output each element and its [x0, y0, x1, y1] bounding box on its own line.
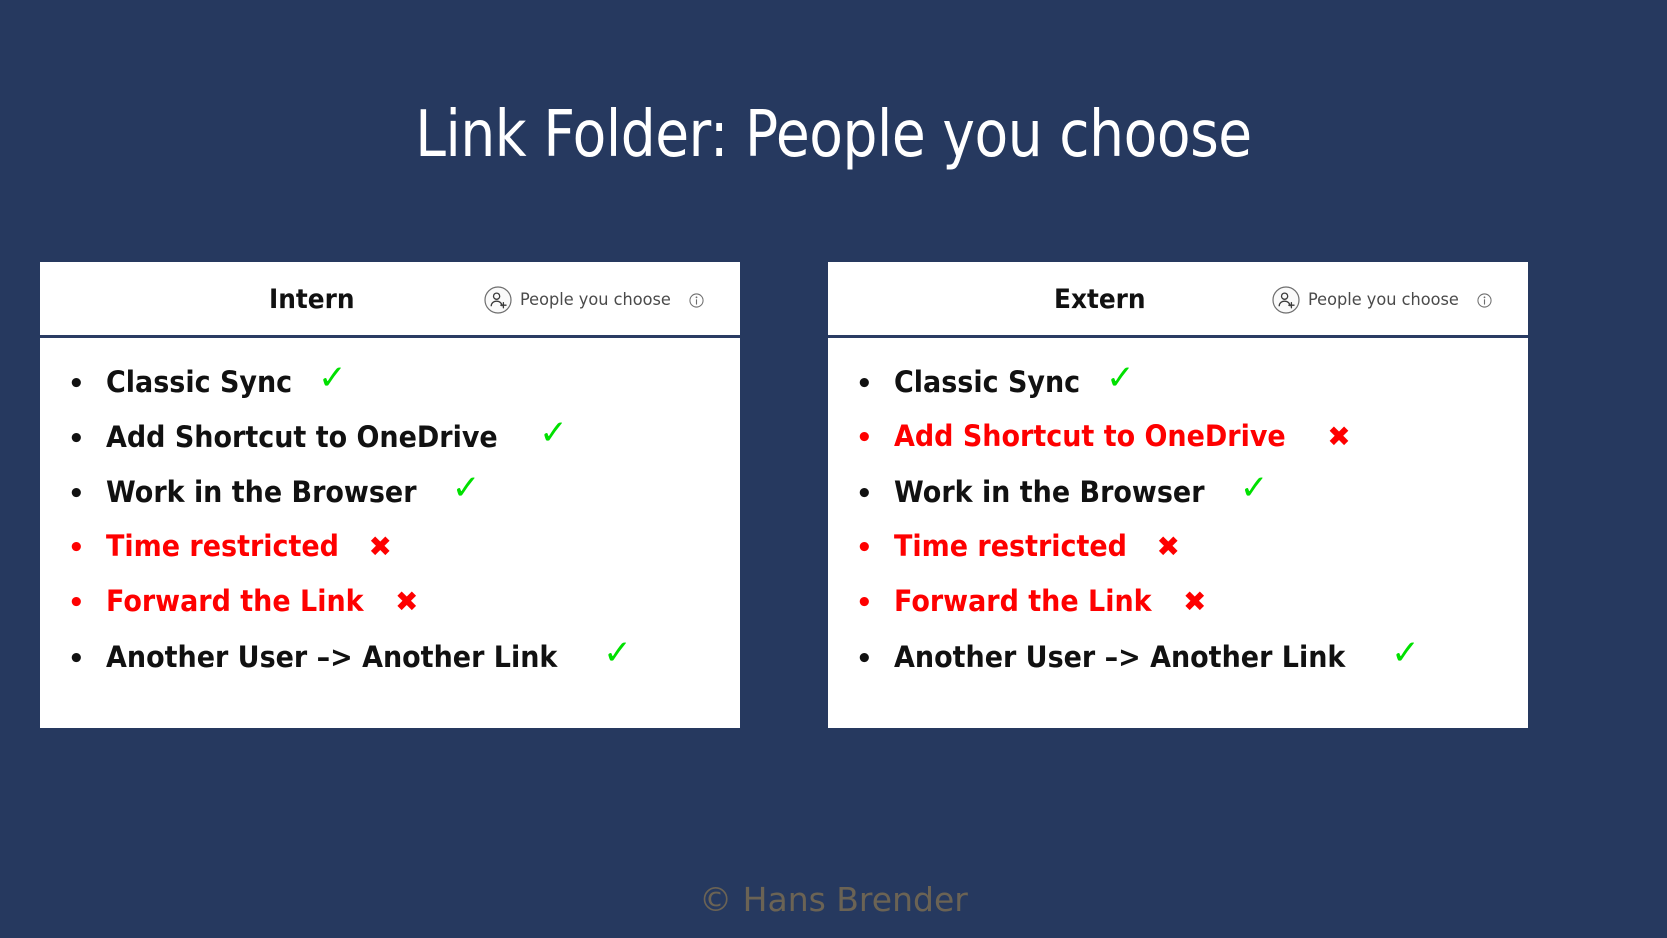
- list-item: • Classic Sync ✓: [40, 364, 740, 419]
- card-extern: Extern People you choose • Classic Sync …: [828, 262, 1528, 728]
- list-item-label: Another User –> Another Link: [106, 640, 557, 674]
- audience-chip[interactable]: People you choose: [484, 286, 704, 314]
- bullet-marker: •: [856, 535, 894, 561]
- status-check-icon: ✓: [539, 416, 568, 450]
- bullet-marker: •: [856, 425, 894, 451]
- bullet-marker: •: [68, 426, 106, 452]
- status-check-icon: ✓: [603, 636, 632, 670]
- list-item-label: Add Shortcut to OneDrive: [894, 419, 1286, 453]
- info-icon[interactable]: [1477, 293, 1492, 308]
- page-title: Link Folder: People you choose: [117, 96, 1551, 174]
- list-item: • Time restricted ✖: [828, 529, 1528, 584]
- list-item: • Forward the Link ✖: [828, 584, 1528, 639]
- feature-list-extern: • Classic Sync ✓ • Add Shortcut to OneDr…: [828, 338, 1528, 694]
- status-cross-icon: ✖: [1183, 588, 1206, 616]
- status-cross-icon: ✖: [1327, 423, 1350, 451]
- bullet-marker: •: [856, 590, 894, 616]
- list-item: • Another User –> Another Link ✓: [40, 639, 740, 694]
- list-item-label: Time restricted: [894, 529, 1127, 563]
- status-check-icon: ✓: [452, 471, 481, 505]
- status-check-icon: ✓: [1240, 471, 1269, 505]
- bullet-marker: •: [856, 646, 894, 672]
- list-item: • Time restricted ✖: [40, 529, 740, 584]
- feature-list-intern: • Classic Sync ✓ • Add Shortcut to OneDr…: [40, 338, 740, 694]
- bullet-marker: •: [856, 481, 894, 507]
- info-icon[interactable]: [689, 293, 704, 308]
- audience-chip[interactable]: People you choose: [1272, 286, 1492, 314]
- bullet-marker: •: [68, 535, 106, 561]
- list-item-label: Work in the Browser: [894, 475, 1205, 509]
- status-cross-icon: ✖: [369, 533, 392, 561]
- list-item: • Classic Sync ✓: [828, 364, 1528, 419]
- status-cross-icon: ✖: [1157, 533, 1180, 561]
- list-item-label: Classic Sync: [106, 365, 292, 399]
- card-intern: Intern People you choose • Classic Sync …: [40, 262, 740, 728]
- status-check-icon: ✓: [1391, 636, 1420, 670]
- list-item-label: Forward the Link: [894, 584, 1152, 618]
- bullet-marker: •: [68, 371, 106, 397]
- audience-label: People you choose: [520, 290, 671, 310]
- status-cross-icon: ✖: [395, 588, 418, 616]
- card-header: Extern People you choose: [828, 262, 1528, 338]
- status-check-icon: ✓: [318, 361, 347, 395]
- bullet-marker: •: [68, 646, 106, 672]
- list-item-label: Another User –> Another Link: [894, 640, 1345, 674]
- people-add-icon: [484, 286, 512, 314]
- list-item-label: Add Shortcut to OneDrive: [106, 420, 498, 454]
- audience-label: People you choose: [1308, 290, 1459, 310]
- list-item: • Add Shortcut to OneDrive ✓: [40, 419, 740, 474]
- copyright-watermark: © Hans Brender: [0, 880, 1667, 919]
- list-item: • Forward the Link ✖: [40, 584, 740, 639]
- list-item: • Add Shortcut to OneDrive ✖: [828, 419, 1528, 474]
- list-item: • Work in the Browser ✓: [40, 474, 740, 529]
- list-item-label: Time restricted: [106, 529, 339, 563]
- bullet-marker: •: [856, 371, 894, 397]
- list-item-label: Classic Sync: [894, 365, 1080, 399]
- bullet-marker: •: [68, 590, 106, 616]
- list-item: • Another User –> Another Link ✓: [828, 639, 1528, 694]
- people-add-icon: [1272, 286, 1300, 314]
- list-item: • Work in the Browser ✓: [828, 474, 1528, 529]
- list-item-label: Work in the Browser: [106, 475, 417, 509]
- card-header: Intern People you choose: [40, 262, 740, 338]
- status-check-icon: ✓: [1106, 361, 1135, 395]
- bullet-marker: •: [68, 481, 106, 507]
- list-item-label: Forward the Link: [106, 584, 364, 618]
